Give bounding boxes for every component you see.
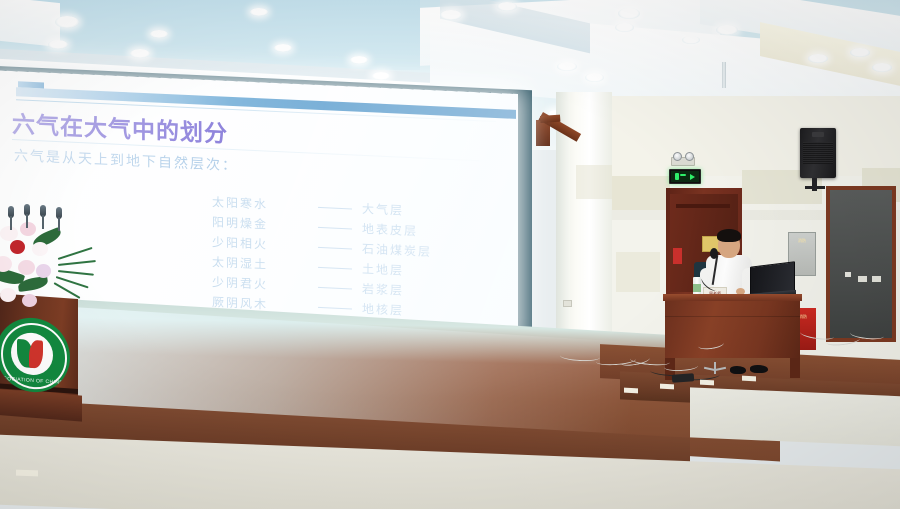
slide-pair-dash	[318, 206, 352, 209]
presenter-shoe	[750, 365, 768, 373]
downlight	[440, 10, 462, 20]
floor-marker-tape	[700, 380, 714, 386]
flower-bloom	[20, 222, 36, 236]
slide-pair-right: 地表皮层	[362, 219, 418, 242]
downlight	[618, 8, 640, 19]
speaker-tweeter	[812, 132, 824, 137]
fire-notice-red	[673, 248, 682, 264]
power-strip	[672, 373, 695, 383]
desk-microphone-head	[710, 248, 718, 259]
downlight	[350, 56, 368, 64]
speaker-bracket-arm	[805, 186, 825, 189]
slide-pair-right: 岩浆层	[362, 279, 404, 301]
exit-running-man-icon	[680, 174, 686, 176]
desk-leg	[790, 358, 800, 378]
flower-arrangement	[0, 218, 100, 314]
emergency-light-head	[673, 152, 682, 161]
downlight	[274, 44, 292, 52]
wood-beam-short	[540, 115, 560, 123]
downlight	[716, 25, 738, 35]
floor-marker-tape	[16, 470, 38, 477]
presenter-desk	[665, 296, 800, 358]
slide-title: 六气在大气中的划分	[12, 105, 228, 149]
speaker-grill	[803, 142, 833, 164]
flower-bloom	[22, 294, 37, 307]
wall-outlet	[858, 276, 867, 282]
slide-pair-dash	[318, 286, 352, 289]
presenter-hair	[717, 229, 741, 242]
hall-floor-right	[690, 387, 900, 446]
ceiling-hanger-rod	[722, 62, 726, 88]
palm-frond	[58, 270, 94, 276]
flower-bloom	[18, 260, 35, 275]
exit-running-man-icon	[675, 173, 679, 180]
slide-pair-dash	[318, 266, 352, 269]
downlight	[55, 16, 79, 28]
slide-pair-dash	[318, 246, 352, 249]
flower-bloom	[0, 226, 18, 241]
floor-marker-tape	[660, 384, 674, 390]
slide-pair-list: 太阳寒水大气层阳明燥金地表皮层少阳相火石油煤炭层太阴湿土土地层少阴君火岩浆层厥阴…	[212, 192, 432, 322]
wall-panel-upper	[610, 96, 900, 176]
desk-panel-line	[665, 316, 800, 317]
downlight	[372, 72, 390, 80]
wall-switch	[845, 272, 851, 277]
slide-pair-right: 土地层	[362, 259, 404, 281]
flower-bloom	[0, 256, 12, 272]
doorway-frame	[826, 186, 896, 342]
exit-arrow-icon	[690, 174, 695, 180]
downlight	[497, 2, 517, 11]
downlight	[250, 8, 268, 16]
downlight	[130, 49, 150, 58]
downlight	[808, 54, 828, 63]
slide-subtitle: 六气是从天上到地下自然层次：	[14, 145, 238, 175]
pa-speaker	[800, 128, 836, 178]
slide-pair-dash	[318, 306, 352, 309]
lecture-hall-screenshot: 消防 消防 六气在大气中的划分 六气是从天上到地下自然层次： 太阳寒水大气层阳明…	[0, 0, 900, 509]
column-panel-beige	[576, 165, 612, 199]
flower-bloom	[10, 240, 25, 254]
downlight	[557, 62, 577, 71]
desk-top-edge	[663, 294, 802, 301]
water-bottle-label	[693, 284, 701, 292]
flower-bloom	[32, 242, 48, 256]
downlight	[872, 63, 892, 72]
wall-outlet	[563, 300, 572, 307]
slide-pair-right: 大气层	[362, 199, 404, 221]
flower-bloom	[0, 288, 16, 302]
speaker-bracket	[812, 178, 817, 191]
emergency-light-head	[685, 152, 694, 161]
slide-pair-dash	[318, 226, 352, 229]
palm-frond	[58, 247, 93, 260]
wall-panel-beige	[610, 176, 670, 210]
downlight	[48, 40, 68, 49]
exit-sign	[669, 169, 701, 184]
wall-panel-beige	[616, 252, 660, 292]
flower-bloom	[36, 264, 51, 278]
wall-outlet	[872, 276, 881, 282]
floor-marker-tape	[742, 376, 756, 382]
downlight	[615, 23, 634, 32]
door-rail	[676, 204, 730, 208]
downlight	[150, 30, 168, 38]
downlight	[585, 73, 604, 82]
presenter-shoe	[730, 366, 746, 374]
floor-marker-tape	[624, 388, 638, 394]
fire-cabinet-label: 消防	[789, 238, 815, 244]
downlight	[682, 36, 700, 44]
downlight	[850, 48, 870, 57]
palm-frond	[58, 260, 96, 266]
